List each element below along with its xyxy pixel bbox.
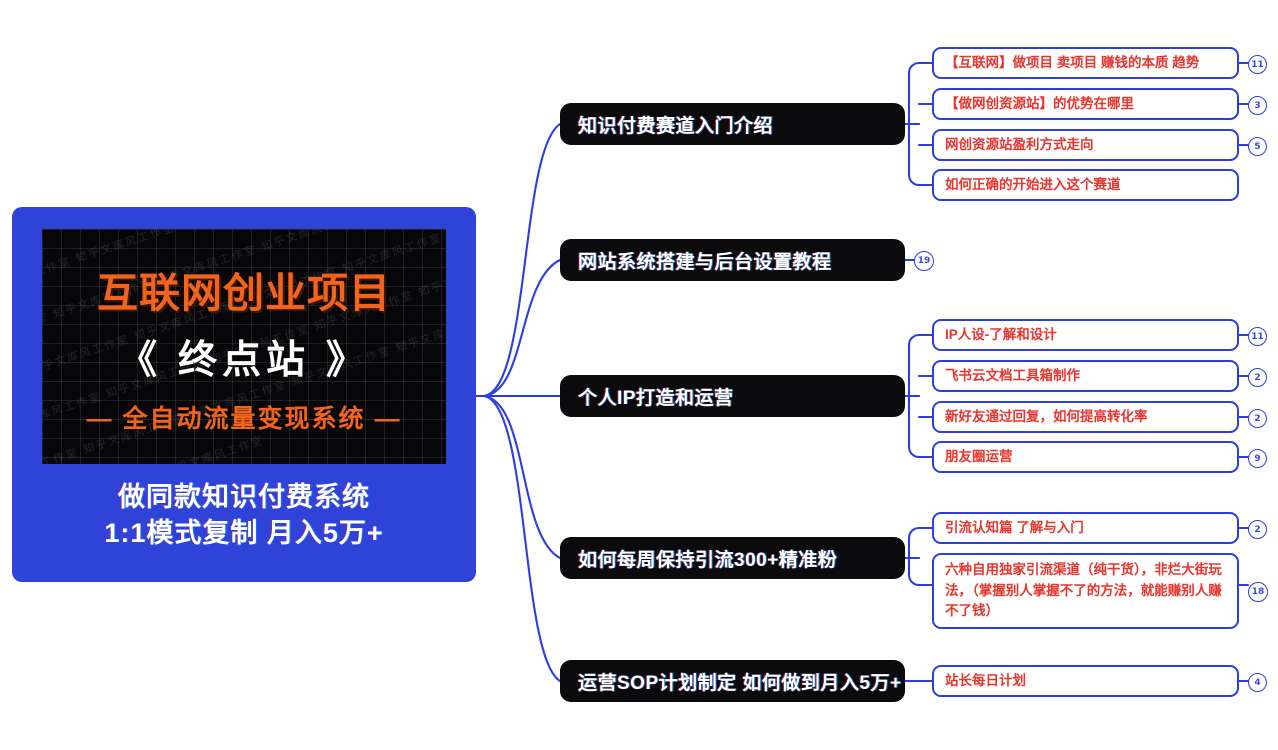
branch-label: 网站系统搭建与后台设置教程 <box>578 247 832 274</box>
leaf-badge-resource-site-advantage: 3 <box>1248 96 1267 115</box>
branch-node-traffic-weekly[interactable]: 如何每周保持引流300+精准粉 <box>560 537 905 579</box>
leaf-label: 朋友圈运营 <box>945 447 1013 468</box>
branch-node-sop-plan[interactable]: 运营SOP计划制定 如何做到月入5万+ <box>560 660 905 702</box>
central-poster-image: 知乎文库风工作室 知乎文库风工作室 知乎文库风工作室 知乎文库风工作室 知乎文库… <box>42 229 446 464</box>
central-subtitle-line2: 1:1模式复制 月入5万+ <box>104 516 383 552</box>
leaf-badge-daily-plan: 4 <box>1248 673 1267 692</box>
branch-badge-website-setup: 19 <box>914 251 934 271</box>
mindmap-canvas: 知乎文库风工作室 知乎文库风工作室 知乎文库风工作室 知乎文库风工作室 知乎文库… <box>0 0 1278 750</box>
leaf-badge-moments-operation: 9 <box>1248 449 1267 468</box>
leaf-badge-traffic-cognition: 2 <box>1248 520 1267 539</box>
branch-label: 个人IP打造和运营 <box>578 383 733 410</box>
leaf-badge-six-traffic-channels: 18 <box>1248 582 1268 602</box>
leaf-node-resource-site-advantage[interactable]: 【做网创资源站】的优势在哪里 <box>932 88 1239 120</box>
leaf-badge-ip-persona: 11 <box>1248 327 1267 346</box>
leaf-label: 网创资源站盈利方式走向 <box>945 135 1094 156</box>
leaf-node-how-to-start[interactable]: 如何正确的开始进入这个赛道 <box>932 169 1239 201</box>
leaf-badge-new-friend-reply: 2 <box>1248 409 1267 428</box>
leaf-node-new-friend-reply[interactable]: 新好友通过回复，如何提高转化率 <box>932 401 1239 433</box>
leaf-node-six-traffic-channels[interactable]: 六种自用独家引流渠道（纯干货），非烂大街玩法，（掌握别人掌握不了的方法，就能赚别… <box>932 553 1239 629</box>
leaf-badge-internet-project-essence: 11 <box>1248 55 1267 74</box>
branch-label: 运营SOP计划制定 如何做到月入5万+ <box>578 668 902 695</box>
branch-node-knowledge-intro[interactable]: 知识付费赛道入门介绍 <box>560 103 905 145</box>
leaf-label: 【互联网】做项目 卖项目 赚钱的本质 趋势 <box>945 53 1199 74</box>
leaf-label: 新好友通过回复，如何提高转化率 <box>945 407 1148 428</box>
branch-label: 如何每周保持引流300+精准粉 <box>578 545 837 572</box>
leaf-label: 六种自用独家引流渠道（纯干货），非烂大街玩法，（掌握别人掌握不了的方法，就能赚别… <box>945 560 1226 623</box>
central-node[interactable]: 知乎文库风工作室 知乎文库风工作室 知乎文库风工作室 知乎文库风工作室 知乎文库… <box>12 207 476 582</box>
leaf-node-feishu-toolbox[interactable]: 飞书云文档工具箱制作 <box>932 360 1239 392</box>
poster-title-line2: 《 终点站 》 <box>118 329 370 385</box>
branch-node-personal-ip[interactable]: 个人IP打造和运营 <box>560 375 905 417</box>
poster-title-line3: — 全自动流量变现系统 — <box>87 399 402 435</box>
central-subtitle: 做同款知识付费系统 1:1模式复制 月入5万+ <box>104 480 383 551</box>
leaf-label: 飞书云文档工具箱制作 <box>945 366 1080 387</box>
leaf-label: 【做网创资源站】的优势在哪里 <box>945 94 1134 115</box>
leaf-badge-profit-direction: 5 <box>1248 137 1267 156</box>
leaf-node-moments-operation[interactable]: 朋友圈运营 <box>932 441 1239 473</box>
leaf-node-traffic-cognition[interactable]: 引流认知篇 了解与入门 <box>932 512 1239 544</box>
leaf-badge-feishu-toolbox: 2 <box>1248 368 1267 387</box>
leaf-node-internet-project-essence[interactable]: 【互联网】做项目 卖项目 赚钱的本质 趋势 <box>932 47 1239 79</box>
leaf-label: 如何正确的开始进入这个赛道 <box>945 175 1121 196</box>
leaf-label: 引流认知篇 了解与入门 <box>945 518 1084 539</box>
leaf-label: IP人设-了解和设计 <box>945 325 1057 346</box>
leaf-node-ip-persona[interactable]: IP人设-了解和设计 <box>932 319 1239 351</box>
branch-node-website-setup[interactable]: 网站系统搭建与后台设置教程 <box>560 239 905 281</box>
leaf-node-profit-direction[interactable]: 网创资源站盈利方式走向 <box>932 129 1239 161</box>
central-subtitle-line1: 做同款知识付费系统 <box>104 480 383 516</box>
leaf-label: 站长每日计划 <box>945 671 1026 692</box>
leaf-node-daily-plan[interactable]: 站长每日计划 <box>932 665 1239 697</box>
poster-title-line1: 互联网创业项目 <box>97 259 391 319</box>
branch-label: 知识付费赛道入门介绍 <box>578 111 773 138</box>
